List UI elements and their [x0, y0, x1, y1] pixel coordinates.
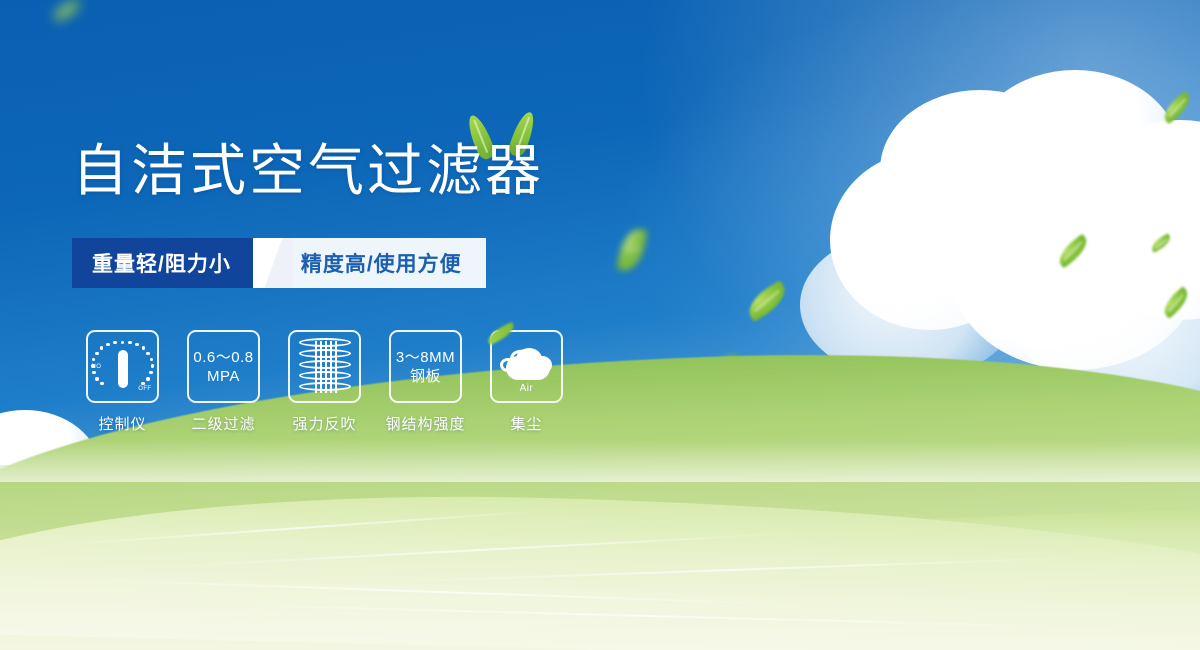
feature-caption: 强力反吹: [292, 413, 356, 434]
feature-item[interactable]: NO OFF 控制仪: [72, 330, 173, 434]
pressure-value-line2: MPA: [207, 367, 240, 386]
feature-icon-box: 0.6～0.8 MPA: [187, 330, 260, 403]
coil-filter-icon: [299, 338, 351, 396]
subtitle-segment-right: 精度高/使用方便: [293, 238, 486, 288]
subtitle-ribbon: 重量轻/阻力小 精度高/使用方便: [72, 238, 486, 288]
feature-icon-box: [288, 330, 361, 403]
pressure-value-line1: 0.6～0.8: [193, 348, 253, 367]
feature-item[interactable]: 强力反吹: [274, 330, 375, 434]
air-label: Air: [498, 383, 556, 394]
steel-value-line2: 钢板: [410, 367, 441, 386]
slash-divider-icon: [253, 238, 293, 288]
steel-value-line1: 3～8MM: [396, 348, 455, 367]
feature-list: NO OFF 控制仪 0.6～0.8 MPA 二级过滤: [72, 330, 577, 434]
feature-caption: 二级过滤: [191, 413, 255, 434]
feature-item[interactable]: 3～8MM 钢板 钢结构强度: [375, 330, 476, 434]
feature-icon-box: Air: [490, 330, 563, 403]
page-title: 自洁式空气过滤器: [72, 143, 544, 199]
gauge-needle-icon: [118, 350, 128, 388]
leaf-decoration: [485, 322, 517, 346]
subtitle-segment-left: 重量轻/阻力小: [72, 238, 253, 288]
feature-caption: 集尘: [510, 413, 542, 434]
feature-item[interactable]: Air 集尘: [476, 330, 577, 434]
feature-icon-box: NO OFF: [86, 330, 159, 403]
banner-content: 自洁式空气过滤器 重量轻/阻力小 精度高/使用方便: [0, 0, 1200, 650]
feature-icon-box: 3～8MM 钢板: [389, 330, 462, 403]
feature-caption: 控制仪: [98, 413, 146, 434]
air-cloud-icon: Air: [498, 344, 556, 390]
gauge-label-off: OFF: [138, 386, 151, 392]
gauge-label-no: NO: [92, 364, 102, 370]
feature-item[interactable]: 0.6～0.8 MPA 二级过滤: [173, 330, 274, 434]
product-banner: 自洁式空气过滤器 重量轻/阻力小 精度高/使用方便: [0, 0, 1200, 650]
feature-caption: 钢结构强度: [385, 413, 465, 434]
gauge-icon: NO OFF: [92, 338, 154, 396]
